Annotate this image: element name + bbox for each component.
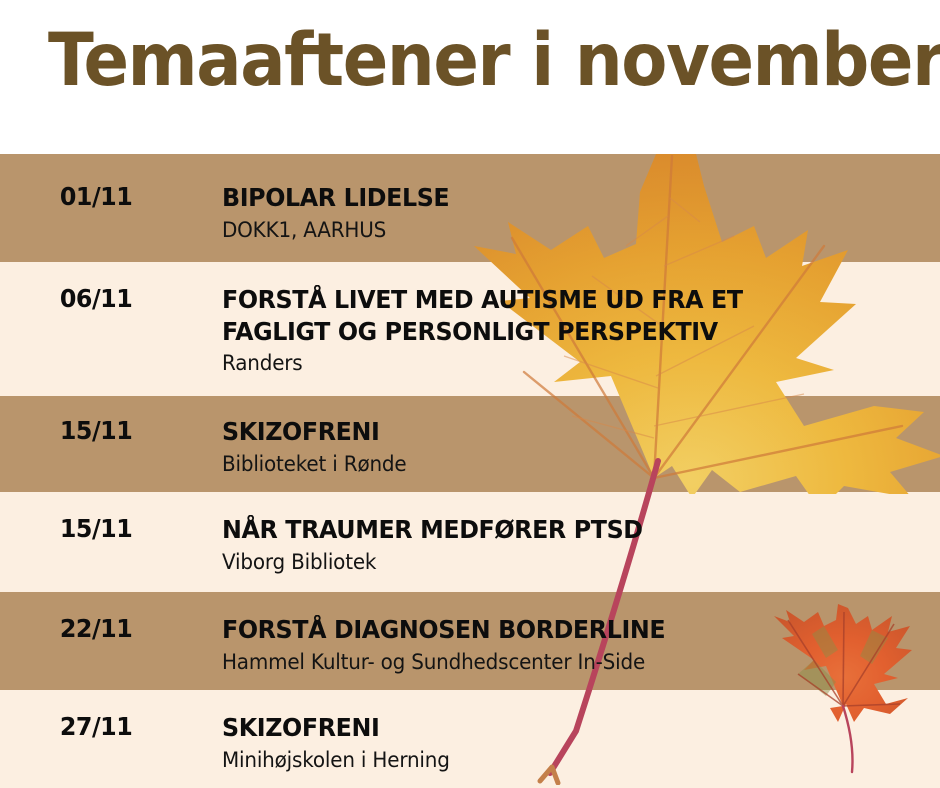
event-title: SKIZOFRENI xyxy=(222,712,904,744)
event-date: 15/11 xyxy=(0,514,152,543)
event-date: 06/11 xyxy=(0,284,152,313)
event-venue: Randers xyxy=(222,350,904,377)
schedule-row[interactable]: 15/11NÅR TRAUMER MEDFØRER PTSDViborg Bib… xyxy=(0,514,940,576)
schedule-row[interactable]: 01/11BIPOLAR LIDELSEDOKK1, AARHUS xyxy=(0,182,940,244)
event-venue: Biblioteket i Rønde xyxy=(222,451,904,478)
event-title: FORSTÅ LIVET MED AUTISME UD FRA ET FAGLI… xyxy=(222,284,904,347)
event-title: NÅR TRAUMER MEDFØRER PTSD xyxy=(222,514,904,546)
event-title: FORSTÅ DIAGNOSEN BORDERLINE xyxy=(222,614,904,646)
event-info: NÅR TRAUMER MEDFØRER PTSDViborg Bibliote… xyxy=(160,514,940,576)
schedule-row[interactable]: 06/11FORSTÅ LIVET MED AUTISME UD FRA ET … xyxy=(0,284,940,377)
event-date: 22/11 xyxy=(0,614,152,643)
event-date: 27/11 xyxy=(0,712,152,741)
event-info: BIPOLAR LIDELSEDOKK1, AARHUS xyxy=(160,182,940,244)
event-venue: Hammel Kultur- og Sundhedscenter In-Side xyxy=(222,649,904,676)
event-title: SKIZOFRENI xyxy=(222,416,904,448)
event-venue: Viborg Bibliotek xyxy=(222,549,904,576)
schedule-row[interactable]: 15/11SKIZOFRENIBiblioteket i Rønde xyxy=(0,416,940,478)
page-title: Temaaftener i november xyxy=(48,24,940,97)
event-date: 15/11 xyxy=(0,416,152,445)
event-info: SKIZOFRENIBiblioteket i Rønde xyxy=(160,416,940,478)
event-info: FORSTÅ LIVET MED AUTISME UD FRA ET FAGLI… xyxy=(160,284,940,377)
schedule-row[interactable]: 22/11FORSTÅ DIAGNOSEN BORDERLINEHammel K… xyxy=(0,614,940,676)
event-info: SKIZOFRENIMinihøjskolen i Herning xyxy=(160,712,940,774)
poster-header: Temaaftener i november xyxy=(0,0,940,154)
event-venue: DOKK1, AARHUS xyxy=(222,217,904,244)
event-date: 01/11 xyxy=(0,182,152,211)
schedule-row[interactable]: 27/11SKIZOFRENIMinihøjskolen i Herning xyxy=(0,712,940,774)
event-title: BIPOLAR LIDELSE xyxy=(222,182,904,214)
poster-canvas: Temaaftener i november 01/11BIPOLAR LIDE… xyxy=(0,0,940,788)
event-venue: Minihøjskolen i Herning xyxy=(222,747,904,774)
event-info: FORSTÅ DIAGNOSEN BORDERLINEHammel Kultur… xyxy=(160,614,940,676)
